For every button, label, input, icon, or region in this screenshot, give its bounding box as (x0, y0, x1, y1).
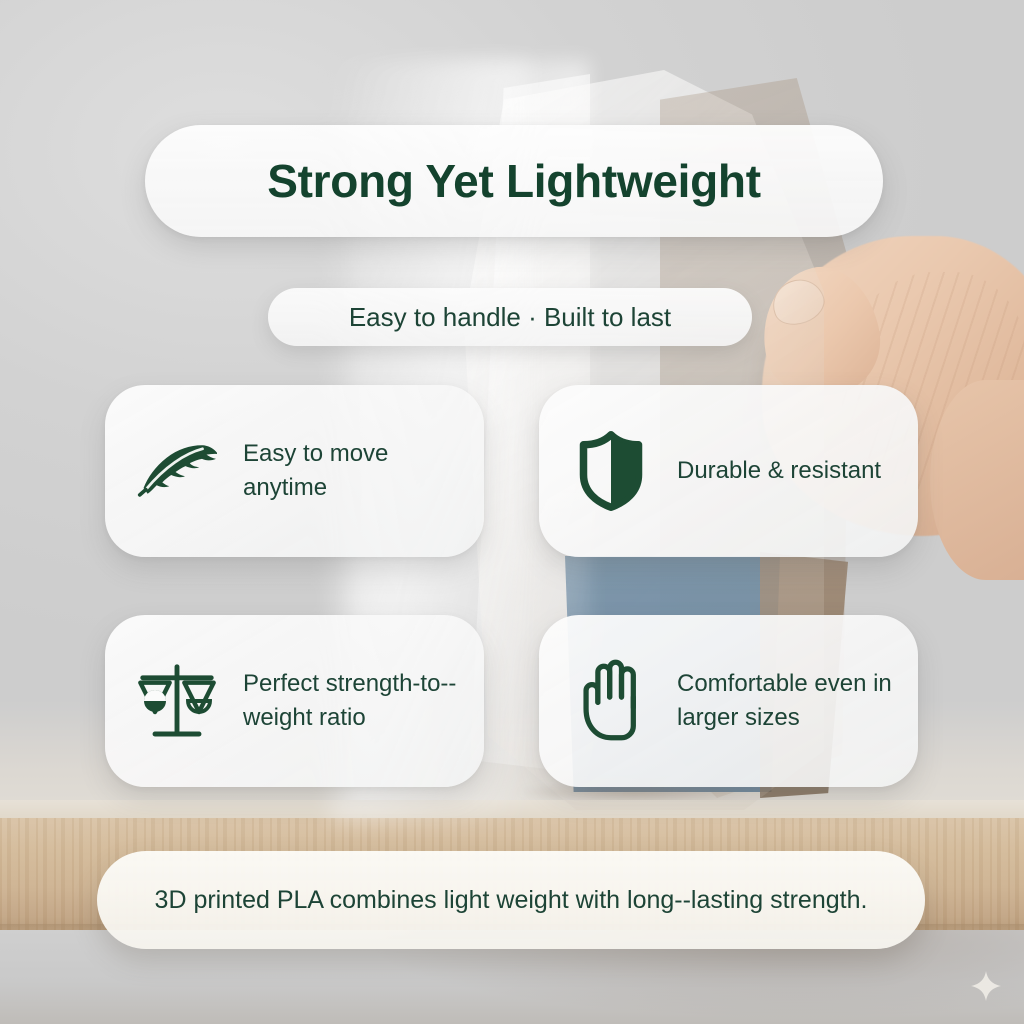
page-subtitle: Easy to handle · Built to last (349, 302, 671, 333)
feature-card-durable-resistant[interactable]: Durable & resistant (539, 385, 918, 557)
feature-card-label: Easy to move anytime (243, 437, 462, 505)
footer-text: 3D printed PLA combines light weight wit… (115, 882, 908, 918)
feature-card-comfortable-larger-sizes[interactable]: Comfortable even in larger sizes (539, 615, 918, 787)
feather-icon (131, 425, 223, 517)
balance-scale-icon (131, 655, 223, 747)
page-title: Strong Yet Lightweight (267, 154, 760, 208)
feature-card-easy-to-move[interactable]: Easy to move anytime (105, 385, 484, 557)
feature-card-label: Perfect strength-to--weight ratio (243, 667, 462, 735)
title-pill: Strong Yet Lightweight (145, 125, 883, 237)
feature-card-strength-to-weight[interactable]: Perfect strength-to--weight ratio (105, 615, 484, 787)
overlay-ui: Strong Yet Lightweight Easy to handle · … (0, 0, 1024, 1024)
feature-card-label: Comfortable even in larger sizes (677, 667, 896, 735)
footer-pill: 3D printed PLA combines light weight wit… (97, 851, 925, 949)
feature-card-label: Durable & resistant (677, 454, 881, 488)
open-hand-icon (565, 655, 657, 747)
sparkle-icon (970, 970, 1002, 1002)
subtitle-pill: Easy to handle · Built to last (268, 288, 752, 346)
shield-icon (565, 425, 657, 517)
